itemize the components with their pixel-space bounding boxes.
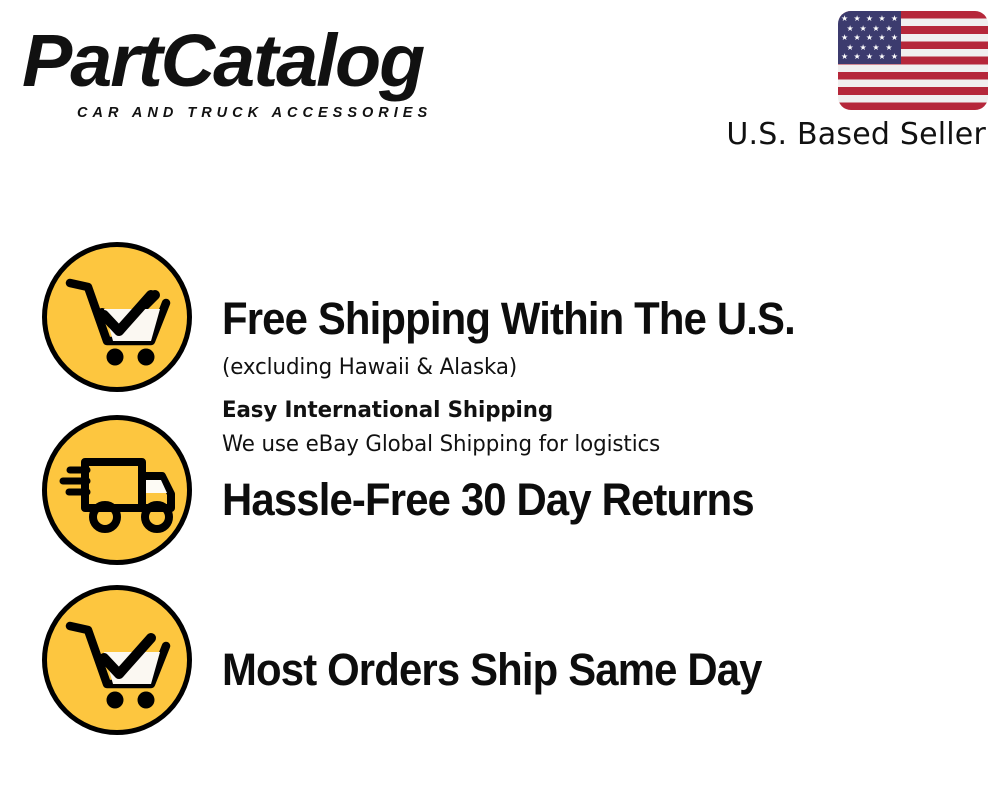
star-icon: ★ (878, 15, 885, 23)
star-icon: ★ (859, 25, 866, 33)
star-icon: ★ (847, 44, 854, 52)
star-icon: ★ (878, 53, 885, 61)
flag-star-row: ★ ★ ★ ★ (847, 44, 893, 52)
page-header: PartCatalog CAR AND TRUCK ACCESSORIES ★ … (0, 0, 1000, 180)
delivery-truck-icon (42, 415, 192, 565)
star-icon: ★ (866, 34, 873, 42)
feature-row-returns: Hassle-Free 30 Day Returns (0, 415, 1000, 585)
feature-headline: Most Orders Ship Same Day (222, 645, 762, 695)
star-icon: ★ (853, 34, 860, 42)
flag-star-row: ★ ★ ★ ★ ★ (841, 34, 898, 42)
star-icon: ★ (891, 53, 898, 61)
feature-row-same-day-ship: Most Orders Ship Same Day (0, 585, 1000, 755)
brand-wordmark: PartCatalog (22, 22, 423, 100)
us-flag-icon: ★ ★ ★ ★ ★ ★ ★ ★ ★ ★ ★ ★ ★ ★ ★ ★ (838, 11, 988, 110)
star-icon: ★ (891, 34, 898, 42)
us-based-seller-label: U.S. Based Seller (726, 118, 986, 152)
star-icon: ★ (866, 15, 873, 23)
shopping-cart-check-icon (42, 242, 192, 392)
star-icon: ★ (866, 53, 873, 61)
flag-star-row: ★ ★ ★ ★ (847, 25, 893, 33)
star-icon: ★ (878, 34, 885, 42)
star-icon: ★ (885, 25, 892, 33)
star-icon: ★ (847, 25, 854, 33)
feature-list: Free Shipping Within The U.S. (excluding… (0, 180, 1000, 800)
star-icon: ★ (872, 25, 879, 33)
star-icon: ★ (853, 53, 860, 61)
star-icon: ★ (885, 44, 892, 52)
feature-subline: (excluding Hawaii & Alaska) (222, 352, 517, 384)
brand-tagline: CAR AND TRUCK ACCESSORIES (77, 105, 432, 121)
star-icon: ★ (841, 34, 848, 42)
flag-star-row: ★ ★ ★ ★ ★ (841, 53, 898, 61)
flag-canton: ★ ★ ★ ★ ★ ★ ★ ★ ★ ★ ★ ★ ★ ★ ★ ★ (838, 11, 901, 64)
flag-star-row: ★ ★ ★ ★ ★ (841, 15, 898, 23)
star-icon: ★ (853, 15, 860, 23)
brand-logo[interactable]: PartCatalog CAR AND TRUCK ACCESSORIES (22, 22, 492, 112)
feature-headline: Free Shipping Within The U.S. (222, 294, 795, 344)
star-icon: ★ (891, 15, 898, 23)
feature-headline: Hassle-Free 30 Day Returns (222, 475, 754, 525)
star-icon: ★ (841, 53, 848, 61)
star-icon: ★ (859, 44, 866, 52)
star-icon: ★ (841, 15, 848, 23)
shopping-cart-check-icon (42, 585, 192, 735)
feature-row-free-shipping: Free Shipping Within The U.S. (excluding… (0, 242, 1000, 412)
star-icon: ★ (872, 44, 879, 52)
